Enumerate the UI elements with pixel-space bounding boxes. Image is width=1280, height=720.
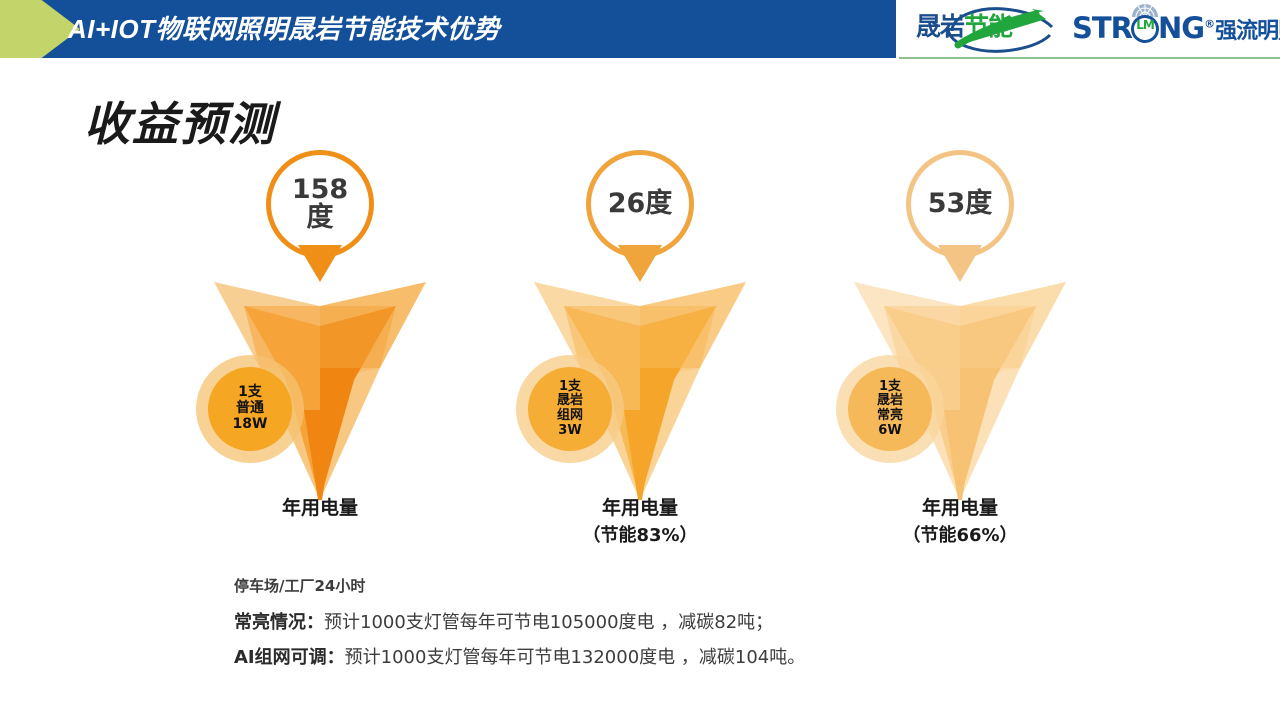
bubble-line-0-2: 18W (233, 417, 268, 433)
pin-number-1: 26度 (608, 190, 673, 218)
funnel-group-0: 158 度 1支 普通 18W 年用电量 (160, 150, 480, 550)
strong-chinese-name: 强流明照明 (1215, 13, 1280, 45)
shengyan-wordmark: 晟岩节能 (916, 15, 1066, 40)
bubble-line-2-2: 常亮 (877, 409, 903, 424)
registered-mark: ® (1204, 17, 1214, 30)
pin-unit-0: 度 (307, 204, 334, 232)
bubble-line-2-3: 6W (878, 424, 901, 439)
page-title: AI+IOT物联网照明晟岩节能技术优势 (68, 0, 500, 58)
caption-main-1: 年用电量 (602, 497, 678, 519)
bubble-label-0: 1支 普通 18W (208, 367, 292, 451)
strong-o-letter-icon: LM (1131, 15, 1159, 43)
bubble-label-1: 1支 晟岩 组网 3W (528, 367, 612, 451)
bubble-label-2: 1支 晟岩 常亮 6W (848, 367, 932, 451)
bubble-line-0-1: 普通 (236, 401, 264, 417)
pin-number-2: 53度 (928, 190, 993, 218)
note-label-0: 常亮情况 (234, 612, 306, 633)
strong-text-part1: STR (1072, 11, 1132, 45)
bubble-line-1-3: 3W (558, 424, 581, 439)
bubble-line-1-2: 组网 (557, 409, 583, 424)
pin-value-1: 26度 (586, 150, 694, 258)
note-label-1: AI组网可调 (234, 647, 327, 668)
note-row-0: 常亮情况：预计1000支灯管每年可节电105000度电 ，减碳82吨； (234, 608, 773, 634)
strong-wordmark: STR LM NG® (1072, 14, 1214, 43)
shengyan-logo: 晟岩节能 (916, 3, 1066, 55)
caption-main-0: 年用电量 (282, 497, 358, 519)
funnel-caption-2: 年用电量 （节能66%） (800, 495, 1120, 549)
bubble-line-2-1: 晟岩 (877, 394, 903, 409)
funnel-group-1: 26度 1支 晟岩 组网 3W 年用电量 （节能83%） (480, 150, 800, 550)
funnel-caption-1: 年用电量 （节能83%） (480, 495, 800, 549)
funnel-group-2: 53度 1支 晟岩 常亮 6W 年用电量 （节能66%） (800, 150, 1120, 550)
brand-logo-panel: 晟岩节能 STR LM NG® (899, 0, 1280, 59)
note-scenario: 停车场/工厂24小时 (234, 575, 365, 596)
caption-main-2: 年用电量 (922, 497, 998, 519)
note-sep-1: ： (327, 647, 345, 668)
pin-value-0: 158 度 (266, 150, 374, 258)
note-text-1: 预计1000支灯管每年可节电132000度电 ，减碳104吨。 (345, 647, 806, 668)
note-text-0: 预计1000支灯管每年可节电105000度电 ，减碳82吨； (324, 612, 773, 633)
pin-value-2: 53度 (906, 150, 1014, 258)
bubble-line-0-0: 1支 (238, 385, 262, 401)
slide-heading: 收益预测 (84, 88, 276, 154)
bubble-line-1-1: 晟岩 (557, 394, 583, 409)
strong-lm-label: LM (1131, 19, 1159, 31)
strong-logo: STR LM NG® 强流明照明 (1072, 3, 1280, 55)
spec-bubble-0: 1支 普通 18W (196, 355, 304, 463)
caption-sub-1: （节能83%） (480, 523, 800, 549)
funnel-caption-0: 年用电量 (160, 495, 480, 523)
caption-sub-2: （节能66%） (800, 523, 1120, 549)
note-sep-0: ： (306, 612, 324, 633)
page-header: AI+IOT物联网照明晟岩节能技术优势 晟岩节能 STR (0, 0, 1280, 60)
pin-number-0: 158 (292, 176, 348, 204)
strong-text-part2: NG (1158, 11, 1204, 45)
shengyan-dark-text: 晟岩 (916, 13, 964, 41)
spec-bubble-1: 1支 晟岩 组网 3W (516, 355, 624, 463)
spec-bubble-2: 1支 晟岩 常亮 6W (836, 355, 944, 463)
shengyan-green-text: 节能 (964, 13, 1012, 41)
note-row-1: AI组网可调：预计1000支灯管每年可节电132000度电 ，减碳104吨。 (234, 643, 805, 669)
